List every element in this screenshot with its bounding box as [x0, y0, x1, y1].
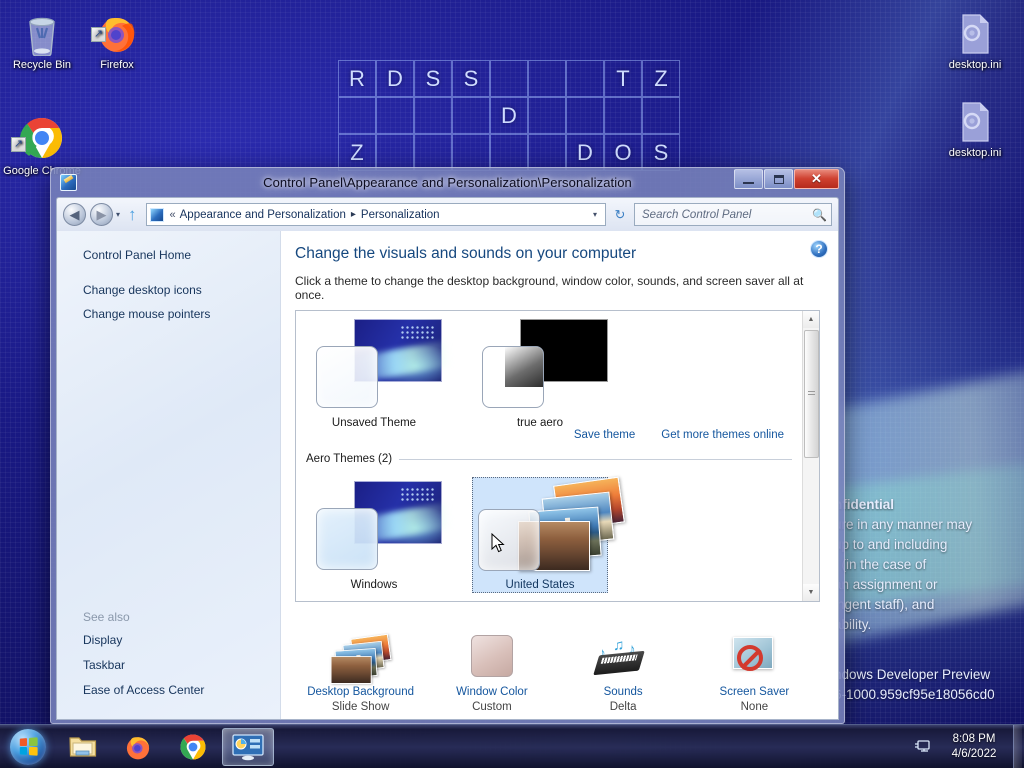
taskbar-item-explorer[interactable] [57, 728, 109, 766]
color-swatch-icon [429, 630, 555, 682]
setting-value: Custom [429, 701, 555, 713]
window-title: Control Panel\Appearance and Personaliza… [263, 175, 632, 190]
watermark-line-9: 6-1000.959cf95e18056cd0 [834, 685, 1024, 705]
theme-name: true aero [476, 417, 604, 429]
theme-thumbnail [310, 319, 438, 411]
crossword-cell: D [490, 97, 528, 134]
page-subtitle: Click a theme to change the desktop back… [295, 274, 820, 302]
crossword-cell: Z [642, 60, 680, 97]
forward-button[interactable]: ▶ [90, 203, 113, 226]
system-tray[interactable]: 8:08 PM 4/6/2022 [909, 725, 1024, 768]
group-header-rule [399, 459, 792, 460]
breadcrumb-separator-icon: ▸ [351, 209, 356, 220]
crossword-cell [642, 97, 680, 134]
firefox-icon: ↗ [78, 6, 156, 56]
control-panel-icon [150, 208, 164, 222]
sidebar-item-control-panel-home[interactable]: Control Panel Home [83, 245, 280, 265]
help-icon[interactable]: ? [810, 240, 828, 258]
crossword-cell [376, 97, 414, 134]
crossword-cell: T [604, 60, 642, 97]
up-button[interactable]: ↑ [128, 206, 137, 223]
personalization-window-icon [60, 174, 77, 191]
address-dropdown-icon[interactable]: ▾ [588, 210, 602, 219]
photo-stack-icon [298, 630, 424, 682]
theme-name: Windows [310, 579, 438, 591]
setting-label[interactable]: Window Color [429, 686, 555, 698]
desktop-icon-desktop-ini-2[interactable]: desktop.ini [936, 94, 1014, 160]
breadcrumb-overflow-icon[interactable]: « [170, 209, 176, 221]
scrollbar-thumb[interactable] [804, 330, 819, 458]
sidebar-item-change-desktop-icons[interactable]: Change desktop icons [83, 280, 280, 300]
window-body: Control Panel Home Change desktop icons … [56, 231, 839, 720]
search-input[interactable]: Search Control Panel 🔍 [634, 203, 832, 226]
recycle-bin-icon [3, 6, 81, 56]
clock-time: 8:08 PM [935, 732, 1013, 747]
setting-screen-saver[interactable]: Screen Saver None [691, 630, 817, 713]
content-pane: ? Change the visuals and sounds on your … [281, 231, 838, 719]
theme-item-unsaved-theme[interactable]: Unsaved Theme [306, 315, 442, 431]
window-preview [478, 509, 540, 571]
scroll-down-arrow-icon[interactable]: ▼ [803, 584, 820, 601]
shortcut-arrow-icon: ↗ [11, 137, 26, 152]
crossword-cell: S [452, 60, 490, 97]
setting-window-color[interactable]: Window Color Custom [429, 630, 555, 713]
window-preview [316, 346, 378, 408]
scrollbar-track[interactable] [803, 328, 820, 584]
search-placeholder: Search Control Panel [642, 209, 812, 221]
desktop-icon-label: desktop.ini [936, 147, 1014, 160]
crossword-cell [452, 97, 490, 134]
breadcrumb-item-appearance[interactable]: Appearance and Personalization [180, 209, 346, 221]
watermark-line-5: an assignment or [834, 575, 1024, 595]
clock-date: 4/6/2022 [935, 747, 1013, 762]
sidebar-item-display[interactable]: Display [83, 630, 273, 650]
setting-sounds[interactable]: ♪ ♫ ♪ Sounds Delta [560, 630, 686, 713]
setting-label[interactable]: Screen Saver [691, 686, 817, 698]
desktop-crossword-grid: RDSSTZDZDOS [338, 60, 680, 171]
watermark-line-4: t (in the case of [834, 555, 1024, 575]
desktop-icon-firefox[interactable]: ↗ Firefox [78, 6, 156, 72]
watermark-line-8: ndows Developer Preview [834, 665, 1024, 685]
start-button[interactable] [2, 727, 54, 767]
crossword-cell: O [604, 134, 642, 171]
crossword-cell [604, 97, 642, 134]
window-controls[interactable]: ✕ [733, 169, 839, 189]
desktop-icon-recycle-bin[interactable]: Recycle Bin [3, 6, 81, 72]
setting-label[interactable]: Sounds [560, 686, 686, 698]
close-button[interactable]: ✕ [794, 169, 839, 189]
window-preview [316, 508, 378, 570]
theme-gallery[interactable]: Unsaved Theme true aero Save theme [295, 310, 820, 602]
taskbar-item-firefox[interactable] [112, 728, 164, 766]
firefox-icon [123, 732, 153, 762]
setting-desktop-background[interactable]: Desktop Background Slide Show [298, 630, 424, 713]
window-titlebar[interactable]: Control Panel\Appearance and Personaliza… [56, 168, 839, 197]
crossword-cell [528, 97, 566, 134]
minimize-button[interactable] [734, 169, 763, 189]
setting-value: Delta [560, 701, 686, 713]
crossword-cell: D [376, 60, 414, 97]
sidebar-item-change-mouse-pointers[interactable]: Change mouse pointers [83, 304, 280, 324]
setting-label[interactable]: Desktop Background [298, 686, 424, 698]
crossword-cell: S [414, 60, 452, 97]
crossword-cell [376, 134, 414, 171]
sidebar[interactable]: Control Panel Home Change desktop icons … [57, 231, 281, 719]
chrome-icon [178, 732, 208, 762]
crossword-cell [528, 60, 566, 97]
crossword-cell [528, 134, 566, 171]
crossword-cell: Z [338, 134, 376, 171]
watermark-line-1: nfidential [834, 495, 1024, 515]
back-button[interactable]: ◀ [63, 203, 86, 226]
personalization-settings-row[interactable]: Desktop Background Slide Show Window Col… [295, 630, 820, 713]
crossword-cell: R [338, 60, 376, 97]
shortcut-arrow-icon: ↗ [91, 27, 106, 42]
desktop-icon-desktop-ini-1[interactable]: desktop.ini [936, 6, 1014, 72]
navigation-toolbar[interactable]: ◀ ▶ ▾ ↑ « Appearance and Personalization… [56, 197, 839, 231]
theme-thumbnail [476, 481, 604, 573]
taskbar-item-chrome[interactable] [167, 728, 219, 766]
chrome-icon: ↗ [3, 112, 81, 162]
crossword-cell [490, 134, 528, 171]
refresh-button[interactable]: ↻ [610, 204, 630, 225]
sidebar-item-ease-of-access-center[interactable]: Ease of Access Center [83, 680, 273, 700]
theme-item-windows[interactable]: Windows [306, 477, 442, 593]
theme-item-true-aero[interactable]: true aero [472, 315, 608, 431]
desktop-icon-label: Recycle Bin [3, 59, 81, 72]
crossword-cell [414, 134, 452, 171]
theme-name: United States [476, 579, 604, 591]
desktop-watermark: nfidential ure in any manner may up to a… [834, 495, 1024, 705]
see-also-header: See also [83, 610, 273, 624]
windows-logo-icon [10, 729, 46, 765]
theme-thumbnail [310, 481, 438, 573]
personalization-window[interactable]: Control Panel\Appearance and Personaliza… [50, 167, 845, 724]
control-panel-icon [231, 733, 265, 761]
ini-file-icon [936, 94, 1014, 144]
setting-value: None [691, 701, 817, 713]
breadcrumb-item-personalization[interactable]: Personalization [361, 209, 440, 221]
search-icon: 🔍 [812, 208, 827, 222]
crossword-cell [414, 97, 452, 134]
crossword-cell: S [642, 134, 680, 171]
folder-icon [68, 734, 98, 760]
window-preview [482, 346, 544, 408]
crossword-cell [338, 97, 376, 134]
watermark-line-7: ability. [834, 615, 1024, 635]
see-also-section: See also Display Taskbar Ease of Access … [83, 610, 273, 705]
save-theme-link[interactable]: Save theme [574, 429, 635, 441]
theme-thumbnail [476, 319, 604, 411]
watermark-line-2: ure in any manner may [834, 515, 1024, 535]
sidebar-item-taskbar[interactable]: Taskbar [83, 655, 273, 675]
breadcrumb-address-bar[interactable]: « Appearance and Personalization ▸ Perso… [146, 203, 606, 226]
crossword-cell [566, 97, 604, 134]
desktop-icon-label: desktop.ini [936, 59, 1014, 72]
watermark-line-6: ingent staff), and [834, 595, 1024, 615]
aero-themes-row: Windows [306, 477, 608, 593]
sounds-icon: ♪ ♫ ♪ [560, 630, 686, 682]
clock[interactable]: 8:08 PM 4/6/2022 [935, 732, 1013, 762]
crossword-cell [566, 60, 604, 97]
maximize-button[interactable] [764, 169, 793, 189]
show-desktop-button[interactable] [1013, 725, 1022, 768]
crossword-cell [452, 134, 490, 171]
setting-value: Slide Show [298, 701, 424, 713]
taskbar[interactable]: 8:08 PM 4/6/2022 [0, 724, 1024, 768]
desktop-icon-label: Firefox [78, 59, 156, 72]
ini-file-icon [936, 6, 1014, 56]
screen-saver-icon [691, 630, 817, 682]
aero-themes-group-header: Aero Themes (2) [306, 453, 792, 465]
theme-name: Unsaved Theme [310, 417, 438, 429]
theme-list-scrollbar[interactable]: ▲ ▼ [802, 311, 819, 601]
watermark-line-3: up to and including [834, 535, 1024, 555]
page-title: Change the visuals and sounds on your co… [295, 245, 820, 263]
scroll-up-arrow-icon[interactable]: ▲ [803, 311, 820, 328]
mouse-cursor [491, 533, 505, 553]
get-more-themes-online-link[interactable]: Get more themes online [661, 429, 784, 441]
group-header-label: Aero Themes (2) [306, 453, 392, 465]
crossword-cell: D [566, 134, 604, 171]
recent-pages-caret-icon[interactable]: ▾ [116, 210, 120, 219]
my-themes-row: Unsaved Theme true aero [306, 315, 802, 431]
theme-list[interactable]: Unsaved Theme true aero Save theme [296, 311, 802, 601]
taskbar-item-control-panel[interactable] [222, 728, 274, 766]
network-icon[interactable] [909, 739, 935, 754]
theme-links[interactable]: Save theme Get more themes online [574, 429, 784, 441]
crossword-cell [490, 60, 528, 97]
